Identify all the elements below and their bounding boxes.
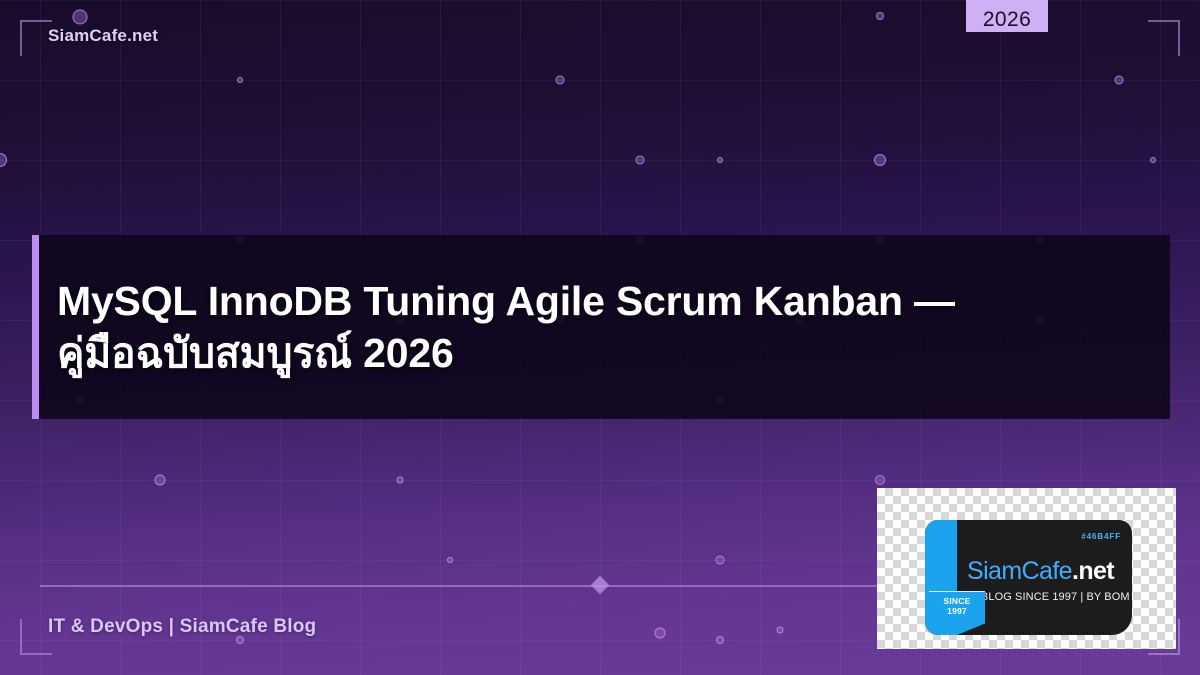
site-name: SiamCafe.net (48, 26, 158, 46)
footer-caption: IT & DevOps | SiamCafe Blog (48, 616, 316, 638)
decor-dot (876, 12, 884, 20)
decor-dot (777, 627, 784, 634)
hero-title-band: MySQL InnoDB Tuning Agile Scrum Kanban —… (32, 235, 1170, 419)
decor-dot (874, 154, 886, 166)
logo-wordmark-suffix: .net (1072, 557, 1114, 585)
logo-wordmark-primary: SiamCafe (967, 557, 1072, 585)
corner-bracket-top-right-icon (1148, 20, 1180, 56)
decor-dot (716, 556, 725, 565)
decor-dot (556, 76, 565, 85)
decor-dot (636, 156, 645, 165)
decor-dot (447, 557, 453, 563)
decor-dot (875, 475, 885, 485)
year-badge-label: 2026 (983, 9, 1031, 30)
decor-dot (237, 77, 243, 83)
blog-cover-canvas: SiamCafe.net 2026 MySQL InnoDB Tuning Ag… (0, 0, 1200, 675)
divider-diamond-icon (591, 576, 609, 594)
decor-dot (155, 475, 166, 486)
decor-dot (717, 157, 723, 163)
decor-dot (716, 636, 724, 644)
decor-dot (397, 477, 404, 484)
decor-dot (1115, 76, 1124, 85)
decor-dot (0, 153, 7, 167)
decor-dot (1150, 157, 1156, 163)
hero-title: MySQL InnoDB Tuning Agile Scrum Kanban —… (32, 275, 975, 380)
logo-wordmark: SiamCafe.net (967, 559, 1114, 584)
logo-inner-card: #46B4FF SiamCafe.net IT BLOG SINCE 1997 … (925, 520, 1132, 635)
logo-tagline: IT BLOG SINCE 1997 | BY BOM (968, 591, 1130, 603)
year-badge: 2026 (966, 0, 1048, 32)
decor-dot (655, 628, 666, 639)
ribbon-line-2: 1997 (947, 607, 967, 617)
logo-card: #46B4FF SiamCafe.net IT BLOG SINCE 1997 … (877, 488, 1176, 649)
logo-hex-label: #46B4FF (1081, 532, 1121, 541)
decor-dot (73, 10, 88, 25)
hero-accent-bar (32, 235, 39, 419)
